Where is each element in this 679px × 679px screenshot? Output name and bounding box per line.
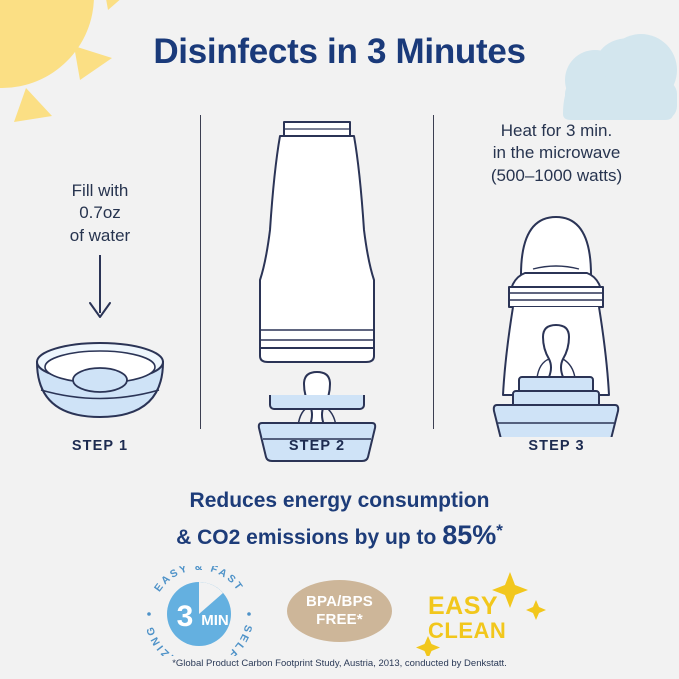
badge-dot-right	[247, 612, 251, 616]
footnote: *Global Product Carbon Footprint Study, …	[0, 658, 679, 669]
badge-3min: EASY & FAST SELF STERILIZING 3 MIN	[133, 566, 265, 656]
step-2-column	[201, 110, 433, 440]
energy-claim-line-1: Reduces energy consumption	[0, 486, 679, 516]
energy-claim-footnote-marker: *	[496, 521, 503, 540]
step-3-caption-line-2: in the microwave	[434, 142, 679, 164]
badge-3min-unit: MIN	[201, 612, 229, 629]
step-1-caption: Fill with 0.7oz of water	[0, 180, 200, 247]
badge-easy-clean: EASY CLEAN	[414, 566, 546, 656]
step-3-caption: Heat for 3 min. in the microwave (500–10…	[434, 120, 679, 187]
badge-easy-clean-line-2: CLEAN	[428, 620, 506, 642]
step-3-caption-line-3: (500–1000 watts)	[434, 165, 679, 187]
step-1-caption-line-1: Fill with	[0, 180, 200, 202]
badge-bpa-line-1: BPA/BPS	[306, 593, 373, 611]
bowl-with-water-icon	[37, 343, 163, 417]
step-1-caption-line-3: of water	[0, 225, 200, 247]
step-2-base-group	[201, 395, 433, 465]
step-1-caption-line-2: 0.7oz	[0, 202, 200, 224]
step-3-caption-line-1: Heat for 3 min.	[434, 120, 679, 142]
badge-dot-left	[147, 612, 151, 616]
energy-claim-line-2-text: & CO2 emissions by up to	[176, 526, 442, 549]
step-3-label: STEP 3	[434, 438, 679, 454]
badges-row: EASY & FAST SELF STERILIZING 3 MIN BPA/B…	[0, 566, 679, 656]
step-2-label: STEP 2	[201, 438, 433, 454]
badge-bpa-free: BPA/BPS FREE*	[287, 580, 392, 642]
down-arrow-icon	[90, 255, 110, 317]
energy-claim-line-2: & CO2 emissions by up to 85%*	[0, 516, 679, 554]
bottle-neck-rings-icon	[509, 287, 603, 307]
energy-claim-percentage: 85%	[442, 520, 496, 550]
badge-3min-number: 3	[177, 600, 194, 633]
step-2-illustration	[201, 110, 433, 440]
badge-easy-clean-line-1: EASY	[428, 594, 506, 620]
infographic-page: Disinfects in 3 Minutes Fill with 0.7oz …	[0, 0, 679, 679]
inverted-bottle-icon	[260, 122, 374, 362]
step-1-label: STEP 1	[0, 438, 200, 454]
energy-claim: Reduces energy consumption & CO2 emissio…	[0, 486, 679, 554]
step-3-column: Heat for 3 min. in the microwave (500–10…	[434, 110, 679, 437]
step-1-column: Fill with 0.7oz of water	[0, 110, 200, 432]
badge-bpa-line-2: FREE*	[316, 611, 363, 629]
page-title: Disinfects in 3 Minutes	[0, 32, 679, 72]
step-3-illustration	[434, 187, 679, 437]
step-1-illustration	[0, 247, 200, 432]
